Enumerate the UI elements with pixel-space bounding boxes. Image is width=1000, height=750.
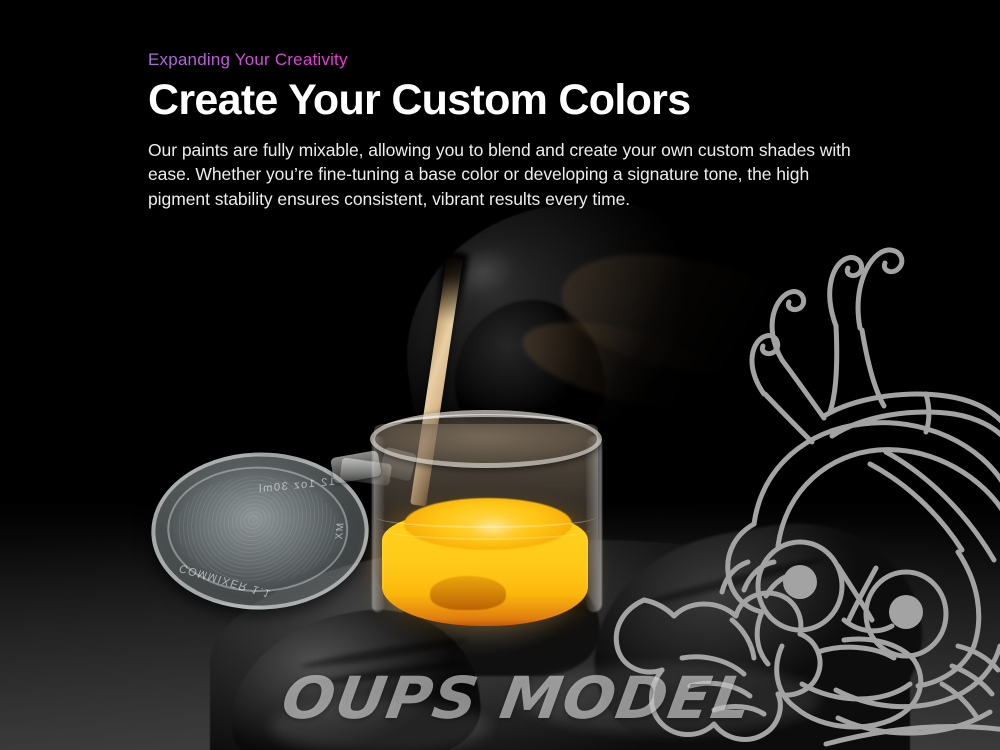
brand-watermark: OUPS MODEL <box>277 664 757 732</box>
paint-drip <box>430 576 506 610</box>
lid-emboss-line-2: COMMIXER 1.1 <box>178 562 274 600</box>
lid-emboss-line-1: 12 1oz 30ml <box>257 476 335 496</box>
page-title: Create Your Custom Colors <box>148 78 868 124</box>
lid-emboss-line-3: MX <box>334 523 347 541</box>
eyebrow-text: Expanding Your Creativity <box>148 50 348 70</box>
promo-banner: 12 1oz 30ml COMMIXER 1.1 MX <box>0 0 1000 750</box>
copy-block: Expanding Your Creativity Create Your Cu… <box>148 50 868 212</box>
cup-measure-ring <box>380 518 592 540</box>
cup-rim-highlight <box>380 414 590 444</box>
body-paragraph: Our paints are fully mixable, allowing y… <box>148 138 858 213</box>
cup-wall-highlight-right <box>586 436 602 612</box>
